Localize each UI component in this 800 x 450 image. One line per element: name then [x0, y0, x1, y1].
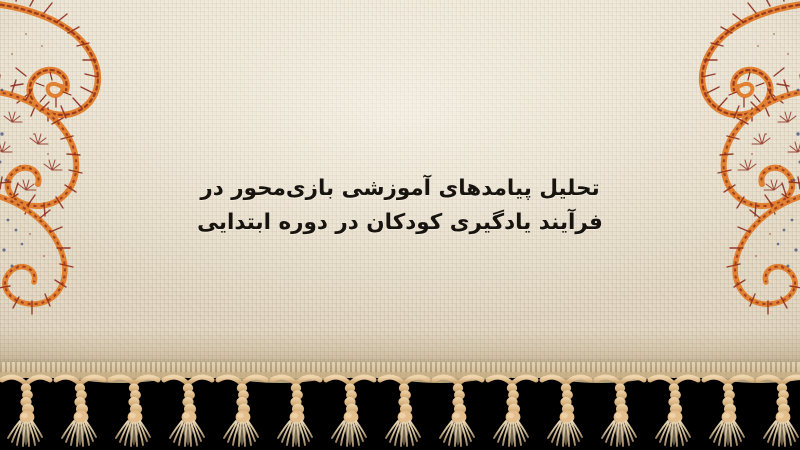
- title-line-1: تحلیل پیامدهای آموزشی بازی‌محور در: [0, 172, 800, 206]
- knotted-tassel-fringe: [0, 372, 800, 450]
- page-title: تحلیل پیامدهای آموزشی بازی‌محور در فرآین…: [0, 172, 800, 240]
- title-line-2: فرآیند یادگیری کودکان در دوره ابتدایی: [0, 206, 800, 240]
- title-slide: تحلیل پیامدهای آموزشی بازی‌محور در فرآین…: [0, 0, 800, 450]
